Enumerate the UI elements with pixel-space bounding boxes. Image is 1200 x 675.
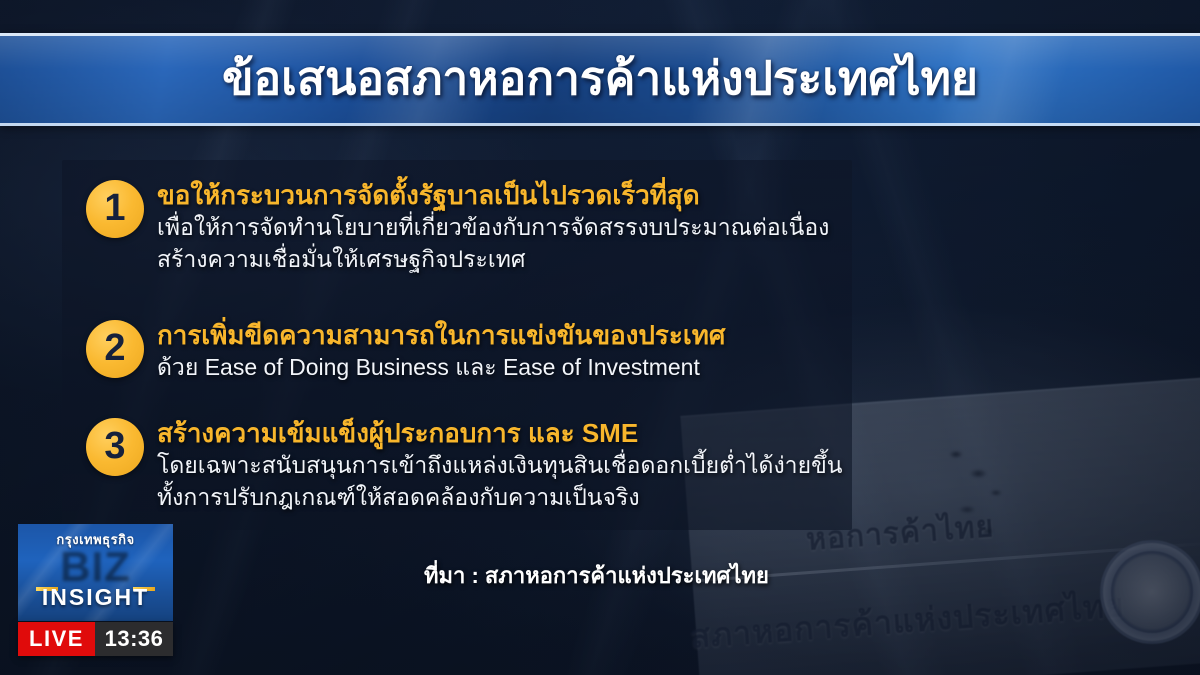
program-logo-bug: กรุงเทพธุรกิจ BIZ INSIGHT xyxy=(18,524,173,621)
list-item-number-badge: 1 xyxy=(86,180,144,238)
list-item-body-line-2: สร้างความเชื่อมั่นให้เศรษฐกิจประเทศ xyxy=(157,245,829,275)
source-credit: ที่มา : สภาหอการค้าแห่งประเทศไทย xyxy=(424,558,769,593)
status-badge: LIVE xyxy=(18,622,95,656)
list-item: 3 สร้างความเข้มแข็งผู้ประกอบการ และ SME … xyxy=(86,418,843,512)
list-item: 2 การเพิ่มขีดความสามารถในการแข่งขันของปร… xyxy=(86,320,725,383)
list-item-heading: สร้างความเข้มแข็งผู้ประกอบการ และ SME xyxy=(157,419,843,449)
live-status-bar: LIVE 13:36 xyxy=(18,622,173,656)
list-item-heading: ขอให้กระบวนการจัดตั้งรัฐบาลเป็นไปรวดเร็ว… xyxy=(157,181,829,211)
list-item-text: การเพิ่มขีดความสามารถในการแข่งขันของประเ… xyxy=(157,320,725,383)
on-air-clock: 13:36 xyxy=(95,622,173,656)
program-name-primary: BIZ xyxy=(18,544,173,586)
broadcast-graphic-screen: หอการค้าไทย สภาหอการค้าแห่งประเทศไทย ข้อ… xyxy=(0,0,1200,675)
list-item-number-badge: 3 xyxy=(86,418,144,476)
list-item-heading: การเพิ่มขีดความสามารถในการแข่งขันของประเ… xyxy=(157,321,725,351)
list-item-number-badge: 2 xyxy=(86,320,144,378)
list-item-body-line-1: ด้วย Ease of Doing Business และ Ease of … xyxy=(157,353,725,383)
program-name-secondary: INSIGHT xyxy=(18,586,173,609)
list-item-body-line-1: เพื่อให้การจัดทำนโยบายที่เกี่ยวข้องกับกา… xyxy=(157,213,829,243)
list-item-body-line-1: โดยเฉพาะสนับสนุนการเข้าถึงแหล่งเงินทุนสิ… xyxy=(157,451,843,481)
page-title: ข้อเสนอสภาหอการค้าแห่งประเทศไทย xyxy=(0,36,1200,123)
header-banner: ข้อเสนอสภาหอการค้าแห่งประเทศไทย xyxy=(0,33,1200,126)
list-item-body-line-2: ทั้งการปรับกฎเกณฑ์ให้สอดคล้องกับความเป็น… xyxy=(157,483,843,513)
list-item-text: ขอให้กระบวนการจัดตั้งรัฐบาลเป็นไปรวดเร็ว… xyxy=(157,180,829,274)
list-item-text: สร้างความเข้มแข็งผู้ประกอบการ และ SME โด… xyxy=(157,418,843,512)
list-item: 1 ขอให้กระบวนการจัดตั้งรัฐบาลเป็นไปรวดเร… xyxy=(86,180,829,274)
